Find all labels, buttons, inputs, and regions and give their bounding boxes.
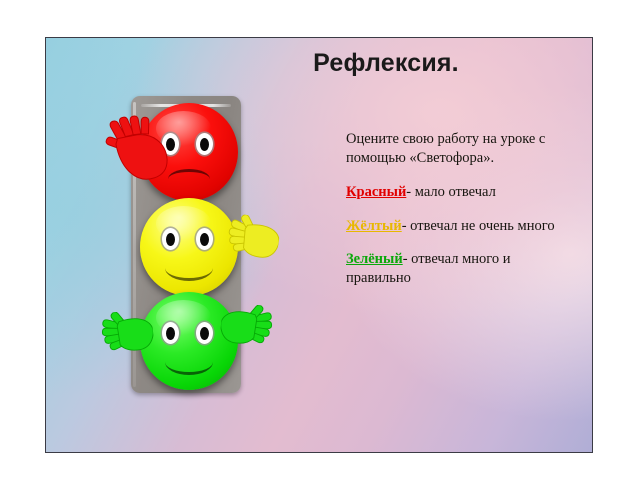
green-hand-left-icon <box>99 308 155 357</box>
legend-item-yellow: Жёлтый- отвечал не очень много <box>346 217 558 236</box>
yellow-face-eye-left <box>162 228 179 250</box>
green-face-eye-right <box>196 322 213 344</box>
legend-keyword-yellow: Жёлтый <box>346 218 402 234</box>
legend-desc-yellow: - отвечал не очень много <box>402 218 555 234</box>
green-hand-right-icon <box>219 301 275 350</box>
legend-item-green: Зелёный- отвечал много и правильно <box>346 250 558 288</box>
yellow-lamp <box>140 198 238 296</box>
pupil-icon <box>166 327 175 340</box>
green-face-eye-left <box>162 322 179 344</box>
instructions-text-block: Оцените свою работу на уроке с помощью «… <box>346 130 558 288</box>
screenshot-canvas: Рефлексия. <box>0 0 640 480</box>
yellow-face-eye-right <box>196 228 213 250</box>
pupil-icon <box>200 233 209 246</box>
yellow-bulb <box>140 198 238 296</box>
presentation-slide: Рефлексия. <box>45 37 593 453</box>
pupil-icon <box>200 138 209 151</box>
yellow-hand-icon <box>224 213 282 264</box>
smile-mouth-icon <box>165 252 213 281</box>
legend-item-red: Красный- мало отвечал <box>346 183 558 202</box>
intro-paragraph: Оцените свою работу на уроке с помощью «… <box>346 130 558 168</box>
legend-keyword-red: Красный <box>346 184 406 200</box>
legend-keyword-green: Зелёный <box>346 251 403 267</box>
pupil-icon <box>166 233 175 246</box>
red-face-eye-right <box>196 133 213 155</box>
pupil-icon <box>200 327 209 340</box>
traffic-light-illustration <box>109 96 264 393</box>
legend-desc-red: - мало отвечал <box>406 184 496 200</box>
intro-text: Оцените свою работу на уроке с помощью «… <box>346 131 545 166</box>
page-title: Рефлексия. <box>236 50 536 78</box>
smile-mouth-icon <box>165 346 213 375</box>
